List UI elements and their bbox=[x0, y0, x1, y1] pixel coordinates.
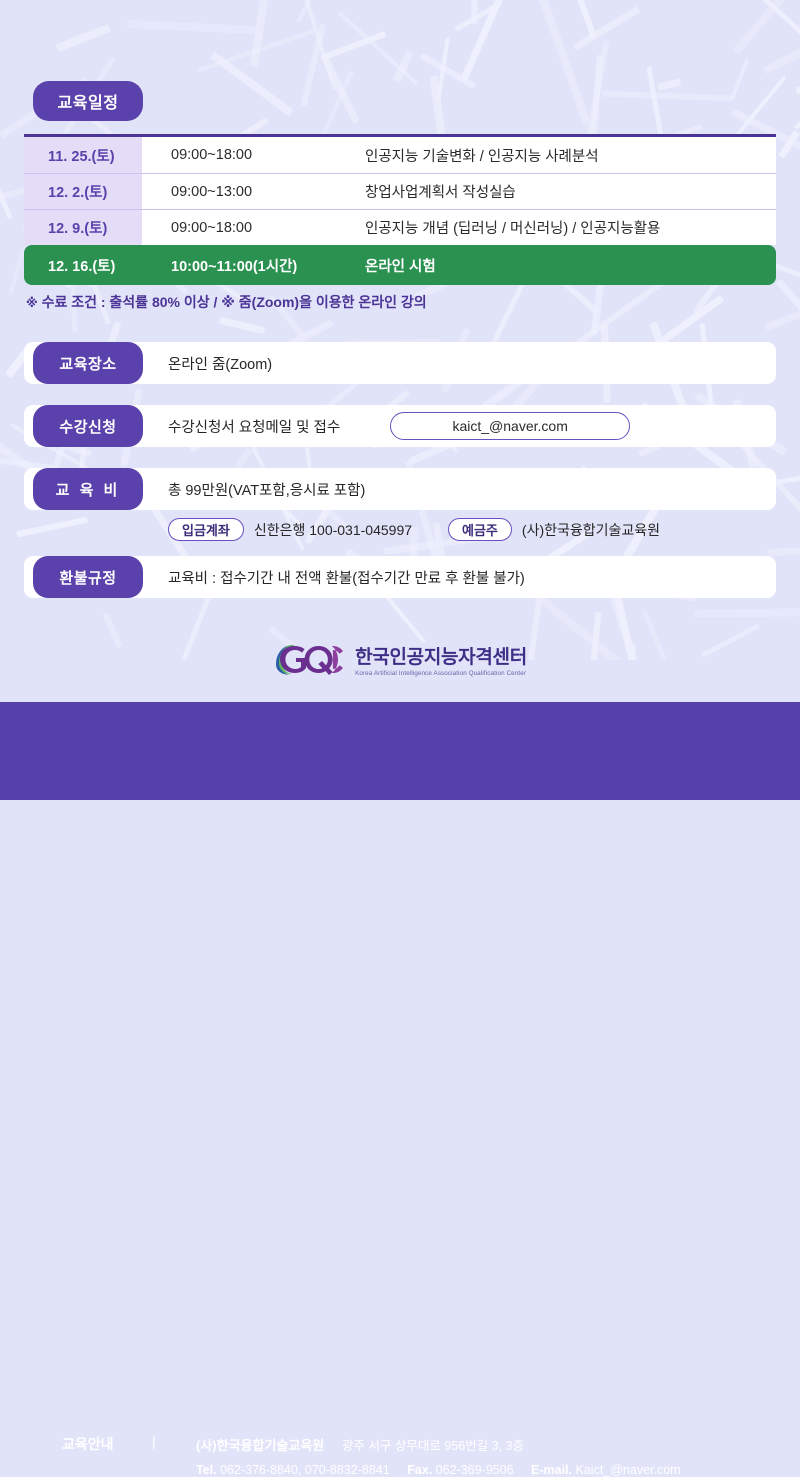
info-label-refund: 환불규정 bbox=[33, 556, 143, 598]
cell-subject: 온라인 시험 bbox=[348, 245, 776, 285]
info-value-apply: 수강신청서 요청메일 및 접수 bbox=[168, 416, 340, 437]
apply-email-pill[interactable]: kaict_@naver.com bbox=[390, 412, 630, 440]
cell-date: 12. 16.(토) bbox=[24, 245, 142, 285]
bank-holder-value: (사)한국융합기술교육원 bbox=[522, 520, 660, 540]
info-row-place: 교육장소 온라인 줌(Zoom) bbox=[24, 342, 776, 384]
bank-account-line: 입금계좌 신한은행 100-031-045997 예금주 (사)한국융합기술교육… bbox=[168, 518, 660, 541]
note-star-icon: ※ bbox=[26, 296, 38, 310]
footer-fax-label: Fax. bbox=[407, 1463, 432, 1477]
info-label-place: 교육장소 bbox=[33, 342, 143, 384]
footer-email-label: E-mail. bbox=[531, 1463, 572, 1477]
footer-tel: 062-376-8840, 070-8832-8841 bbox=[220, 1463, 390, 1477]
organization-logo: 한국인공지능자격센터 Korea Artificial Intelligence… bbox=[0, 632, 800, 686]
note-text: 수료 조건 : 출석률 80% 이상 / ※ 줌(Zoom)을 이용한 온라인 … bbox=[42, 294, 427, 310]
footer-email-group: E-mail. Kaict_@naver.com bbox=[531, 1463, 681, 1477]
footer-label: 교육안내 bbox=[62, 1434, 114, 1454]
info-label-fee: 교 육 비 bbox=[33, 468, 143, 510]
footer-tel-label: Tel. bbox=[196, 1463, 217, 1477]
footer-address: 광주 서구 상무대로 956번길 3, 3층 bbox=[342, 1439, 524, 1453]
logo-name-ko: 한국인공지능자격센터 bbox=[355, 642, 527, 669]
footer-org: (사)한국융합기술교육원 bbox=[196, 1438, 324, 1453]
footer-fax: 062-369-9506 bbox=[436, 1463, 514, 1477]
cell-time: 10:00~11:00(1시간) bbox=[142, 245, 348, 285]
cell-time: 09:00~13:00 bbox=[142, 174, 348, 209]
cell-date: 12. 2.(토) bbox=[24, 174, 142, 209]
poster-page: 교육일정 11. 25.(토) 09:00~18:00 인공지능 기술변화 / … bbox=[0, 0, 800, 800]
cell-date: 12. 9.(토) bbox=[24, 210, 142, 245]
info-value-place-wrap: 온라인 줌(Zoom) bbox=[168, 342, 272, 384]
footer-fax-group: Fax. 062-369-9506 bbox=[407, 1463, 513, 1477]
gqc-logo-icon bbox=[273, 642, 345, 676]
info-value-apply-wrap: 수강신청서 요청메일 및 접수 kaict_@naver.com bbox=[168, 405, 630, 447]
bank-account-value: 신한은행 100-031-045997 bbox=[254, 520, 412, 540]
logo-text-block: 한국인공지능자격센터 Korea Artificial Intelligence… bbox=[355, 642, 527, 677]
logo-name-en: Korea Artificial Intelligence Associatio… bbox=[355, 670, 527, 677]
footer-divider: | bbox=[152, 1433, 156, 1449]
info-value-refund: 교육비 : 접수기간 내 전액 환불(접수기간 만료 후 환불 불가) bbox=[168, 567, 525, 588]
cell-subject: 창업사업계획서 작성실습 bbox=[348, 174, 776, 209]
section-title-schedule-label: 교육일정 bbox=[58, 89, 119, 113]
cell-date: 11. 25.(토) bbox=[24, 137, 142, 173]
footer: 교육안내 | (사)한국융합기술교육원 광주 서구 상무대로 956번길 3, … bbox=[0, 702, 800, 800]
footer-email[interactable]: Kaict_@naver.com bbox=[576, 1463, 681, 1477]
cell-time: 09:00~18:00 bbox=[142, 137, 348, 173]
info-value-fee-wrap: 총 99만원(VAT포함,응시료 포함) bbox=[168, 468, 365, 510]
cell-subject: 인공지능 기술변화 / 인공지능 사례분석 bbox=[348, 137, 776, 173]
info-row-fee: 교 육 비 총 99만원(VAT포함,응시료 포함) bbox=[24, 468, 776, 510]
bank-account-tag: 입금계좌 bbox=[168, 518, 244, 541]
schedule-table: 11. 25.(토) 09:00~18:00 인공지능 기술변화 / 인공지능 … bbox=[24, 134, 776, 285]
info-value-refund-wrap: 교육비 : 접수기간 내 전액 환불(접수기간 만료 후 환불 불가) bbox=[168, 556, 525, 598]
cell-subject: 인공지능 개념 (딥러닝 / 머신러닝) / 인공지능활용 bbox=[348, 210, 776, 245]
info-row-apply: 수강신청 수강신청서 요청메일 및 접수 kaict_@naver.com bbox=[24, 405, 776, 447]
table-row: 11. 25.(토) 09:00~18:00 인공지능 기술변화 / 인공지능 … bbox=[24, 137, 776, 173]
bank-holder-tag: 예금주 bbox=[448, 518, 512, 541]
info-row-refund: 환불규정 교육비 : 접수기간 내 전액 환불(접수기간 만료 후 환불 불가) bbox=[24, 556, 776, 598]
completion-condition-note: ※ 수료 조건 : 출석률 80% 이상 / ※ 줌(Zoom)을 이용한 온라… bbox=[26, 292, 427, 312]
info-value-place: 온라인 줌(Zoom) bbox=[168, 353, 272, 374]
table-row: 12. 2.(토) 09:00~13:00 창업사업계획서 작성실습 bbox=[24, 173, 776, 209]
info-value-fee: 총 99만원(VAT포함,응시료 포함) bbox=[168, 479, 365, 500]
table-row: 12. 9.(토) 09:00~18:00 인공지능 개념 (딥러닝 / 머신러… bbox=[24, 209, 776, 245]
cell-time: 09:00~18:00 bbox=[142, 210, 348, 245]
table-row-exam-highlight: 12. 16.(토) 10:00~11:00(1시간) 온라인 시험 bbox=[24, 245, 776, 285]
section-title-schedule: 교육일정 bbox=[33, 81, 143, 121]
footer-tel-group: Tel. 062-376-8840, 070-8832-8841 bbox=[196, 1463, 390, 1477]
info-label-apply: 수강신청 bbox=[33, 405, 143, 447]
footer-contact-line: Tel. 062-376-8840, 070-8832-8841 Fax. 06… bbox=[196, 1463, 695, 1477]
footer-org-line: (사)한국융합기술교육원 광주 서구 상무대로 956번길 3, 3층 bbox=[196, 1435, 524, 1454]
